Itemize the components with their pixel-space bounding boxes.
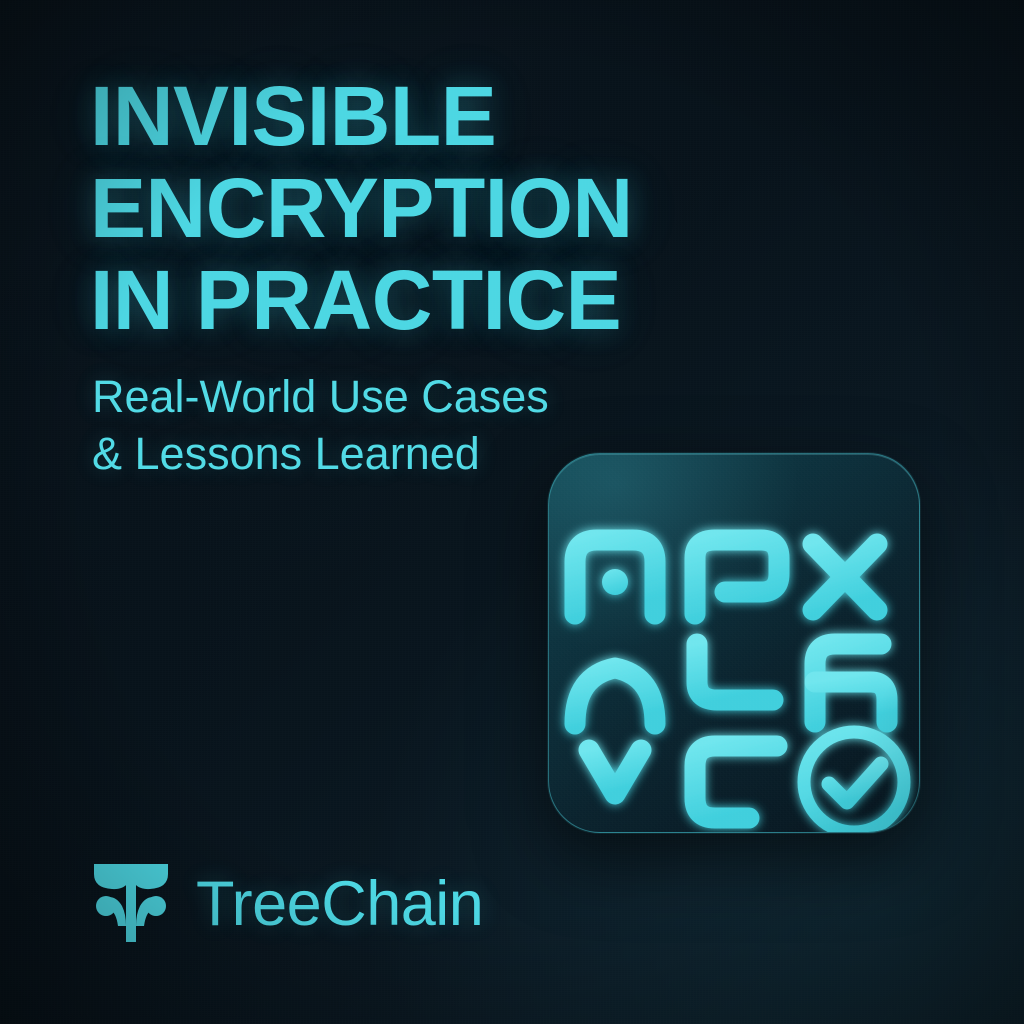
glyph-c-hook [695, 746, 777, 818]
headline-line-2: ENCRYPTION [90, 162, 690, 254]
glyph-hourglass [575, 746, 655, 814]
brand-name: TreeChain [196, 871, 483, 937]
subtitle-line-1: Real-World Use Cases [92, 368, 652, 425]
glyph-f [815, 644, 887, 722]
encrypted-glyph-card [548, 453, 920, 833]
glyph-y [697, 644, 773, 722]
brand-logo[interactable]: TreeChain [88, 862, 483, 946]
glyph-x [813, 544, 877, 610]
glyph-check-circle [804, 732, 904, 832]
glyph-tree [575, 644, 655, 724]
page-title: INVISIBLE ENCRYPTION IN PRACTICE [90, 70, 690, 346]
glyph-grid [549, 454, 920, 833]
glyph-p-block [695, 540, 779, 614]
poster-canvas: INVISIBLE ENCRYPTION IN PRACTICE Real-Wo… [0, 0, 1024, 1024]
treechain-tree-icon [88, 862, 174, 946]
headline-line-3: IN PRACTICE [90, 254, 690, 346]
glyph-arch-dot [575, 540, 655, 614]
headline-line-1: INVISIBLE [90, 70, 690, 162]
